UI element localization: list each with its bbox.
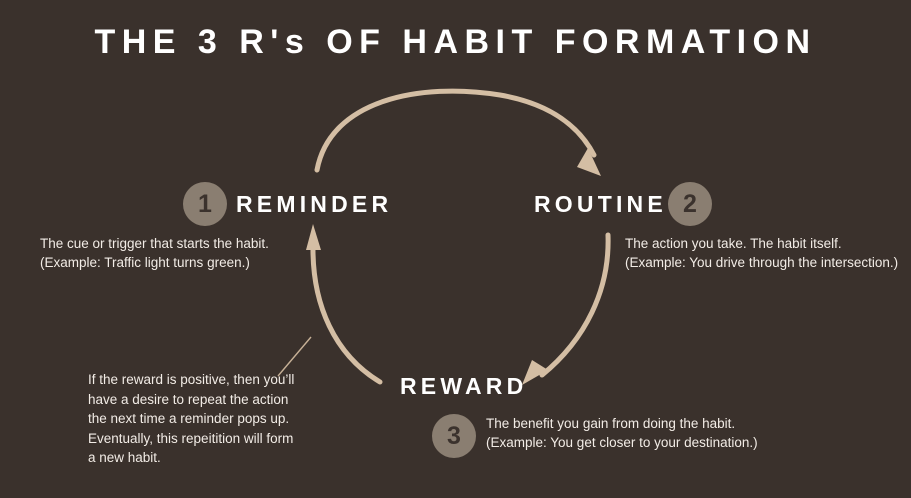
page-title: THE 3 R's OF HABIT FORMATION [0, 22, 911, 62]
stage-number-3: 3 [432, 414, 476, 458]
loop-note-line: a new habit. [88, 448, 323, 468]
stage-description-reward: The benefit you gain from doing the habi… [486, 414, 758, 452]
description-line: (Example: Traffic light turns green.) [40, 253, 269, 272]
loop-note: If the reward is positive, then you’ll h… [88, 370, 323, 468]
arrow-reminder-to-routine [317, 91, 601, 176]
stage-label-routine: ROUTINE [534, 190, 667, 218]
description-line: (Example: You drive through the intersec… [625, 253, 898, 272]
description-line: The cue or trigger that starts the habit… [40, 234, 269, 253]
loop-note-line: have a desire to repeat the action [88, 390, 323, 410]
stage-number-2: 2 [668, 182, 712, 226]
description-line: The benefit you gain from doing the habi… [486, 414, 758, 433]
stage-label-reminder: REMINDER [236, 190, 392, 218]
loop-note-line: Eventually, this repeitition will form [88, 429, 323, 449]
stage-label-reward: REWARD [400, 372, 527, 400]
habit-formation-infographic: THE 3 R's OF HABIT FORMATION 1 REMINDER … [0, 0, 911, 498]
stage-number-1: 1 [183, 182, 227, 226]
loop-note-line: If the reward is positive, then you’ll [88, 370, 323, 390]
description-line: The action you take. The habit itself. [625, 234, 898, 253]
arrow-routine-to-reward [522, 235, 608, 385]
loop-note-line: the next time a reminder pops up. [88, 409, 323, 429]
stage-description-reminder: The cue or trigger that starts the habit… [40, 234, 269, 272]
stage-description-routine: The action you take. The habit itself. (… [625, 234, 898, 272]
arrow-reward-to-reminder [306, 224, 380, 382]
description-line: (Example: You get closer to your destina… [486, 433, 758, 452]
